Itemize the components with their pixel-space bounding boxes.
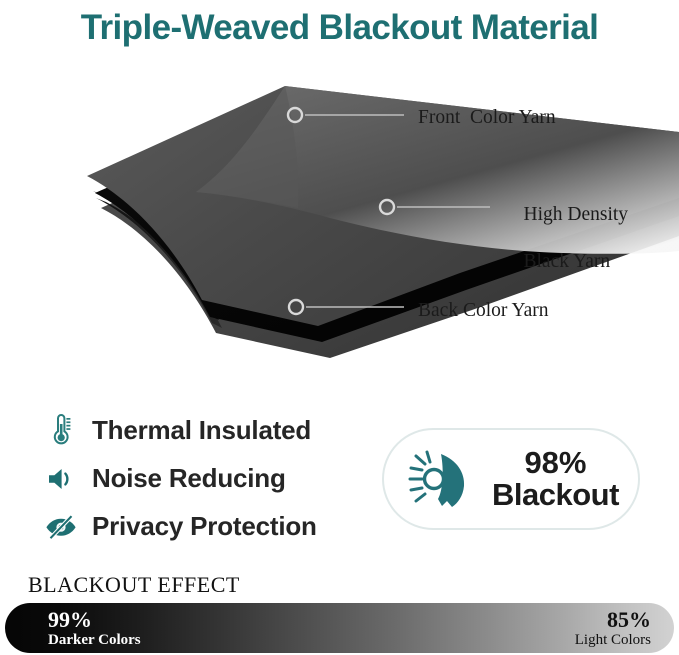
blackout-badge: 98% Blackout xyxy=(382,428,640,530)
feature-label-thermal-insulated: Thermal Insulated xyxy=(92,415,311,446)
feature-privacy-protection: Privacy Protection xyxy=(40,504,370,549)
gradient-bar-right-percent: 85% xyxy=(575,608,651,632)
gradient-bar-right-stat: 85% Light Colors xyxy=(575,608,651,648)
callout-label-high-density-line1: High Density xyxy=(524,204,629,225)
badge-percent: 98% xyxy=(492,447,619,479)
callout-label-back-color-yarn: Back Color Yarn xyxy=(418,299,549,323)
callout-label-front-color-yarn: Front Color Yarn xyxy=(418,106,556,130)
gradient-bar-left-stat: 99% Darker Colors xyxy=(48,608,141,648)
speaker-icon xyxy=(40,461,82,497)
badge-word: Blackout xyxy=(492,479,619,511)
title-bar: Triple-Weaved Blackout Material xyxy=(0,0,679,55)
callout-label-high-density-line2: Black Yarn xyxy=(524,251,611,272)
feature-label-privacy-protection: Privacy Protection xyxy=(92,511,317,542)
callout-label-high-density-black-yarn: High Density Black Yarn xyxy=(504,179,628,298)
thermometer-icon xyxy=(40,413,82,449)
fabric-layer-diagram: Front Color Yarn High Density Black Yarn… xyxy=(0,58,679,398)
sun-blocking-curtain-icon xyxy=(404,444,478,514)
badge-text-block: 98% Blackout xyxy=(492,447,619,511)
blackout-effect-heading: BLACKOUT EFFECT xyxy=(28,572,240,598)
gradient-bar-left-percent: 99% xyxy=(48,608,141,632)
page-title: Triple-Weaved Blackout Material xyxy=(81,10,599,45)
eye-slash-icon xyxy=(40,509,82,545)
feature-label-noise-reducing: Noise Reducing xyxy=(92,463,286,494)
gradient-bar-left-sublabel: Darker Colors xyxy=(48,632,141,649)
gradient-bar-right-sublabel: Light Colors xyxy=(575,632,651,649)
feature-thermal-insulated: Thermal Insulated xyxy=(40,408,370,453)
features-list: Thermal Insulated Noise Reducing Privacy… xyxy=(40,408,370,552)
feature-noise-reducing: Noise Reducing xyxy=(40,456,370,501)
